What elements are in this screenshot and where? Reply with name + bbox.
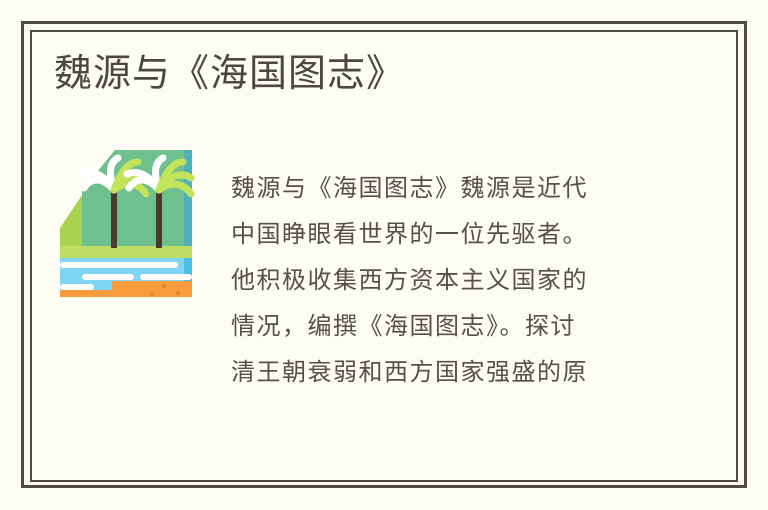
beach-island-illustration — [60, 150, 200, 297]
page-title: 魏源与《海国图志》 — [54, 47, 405, 99]
article-line: 他积极收集西方资本主义国家的 — [231, 257, 651, 303]
article-line: 魏源与《海国图志》魏源是近代 — [231, 165, 651, 211]
article-body: 魏源与《海国图志》魏源是近代 中国睁眼看世界的一位先驱者。 他积极收集西方资本主… — [231, 165, 651, 395]
article-line: 中国睁眼看世界的一位先驱者。 — [231, 211, 651, 257]
article-line: 情况，编撰《海国图志》。探讨 — [231, 303, 651, 349]
article-line: 清王朝衰弱和西方国家强盛的原 — [231, 349, 651, 395]
article-card: 魏源与《海国图志》 — [0, 0, 768, 510]
